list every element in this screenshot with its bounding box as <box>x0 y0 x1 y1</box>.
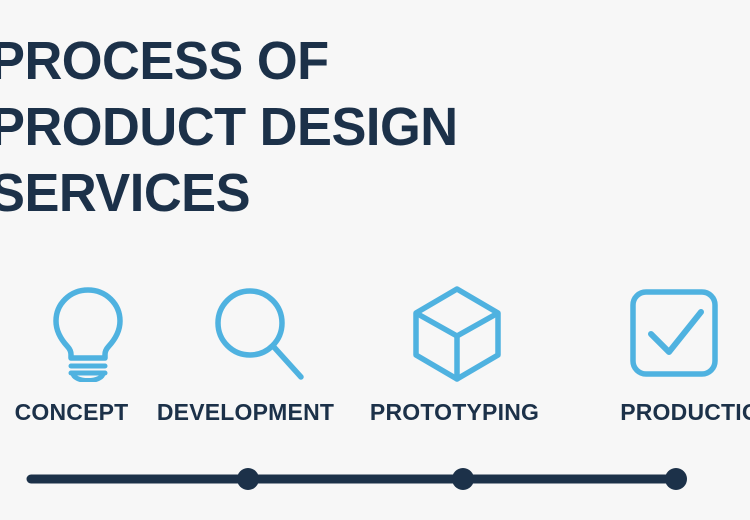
title-line-2: PRODUCT DESIGN <box>0 94 591 160</box>
timeline-dot <box>452 468 474 490</box>
process-timeline <box>0 455 750 505</box>
process-step-production[interactable]: PRODUCTION <box>565 282 750 442</box>
step-label-production: PRODUCTION <box>617 399 750 425</box>
process-step-development[interactable]: DEVELOPMENT <box>120 282 335 442</box>
cube-icon <box>407 282 507 382</box>
step-label-development: DEVELOPMENT <box>156 399 335 425</box>
page-title: PROCESS OF PRODUCT DESIGN SERVICES <box>0 28 610 226</box>
checkbox-check-icon <box>625 282 725 382</box>
process-steps: CONCEPT DEVELOPMENT PROTOTYPING <box>0 282 750 442</box>
timeline-dot <box>237 468 259 490</box>
timeline-dot <box>665 468 687 490</box>
step-label-prototyping: PROTOTYPING <box>347 399 562 425</box>
infographic-canvas: PROCESS OF PRODUCT DESIGN SERVICES CONCE… <box>0 0 750 520</box>
title-line-3: SERVICES <box>0 160 591 226</box>
title-line-1: PROCESS OF <box>0 28 591 94</box>
magnifier-icon <box>208 282 308 382</box>
process-step-prototyping[interactable]: PROTOTYPING <box>347 282 562 442</box>
